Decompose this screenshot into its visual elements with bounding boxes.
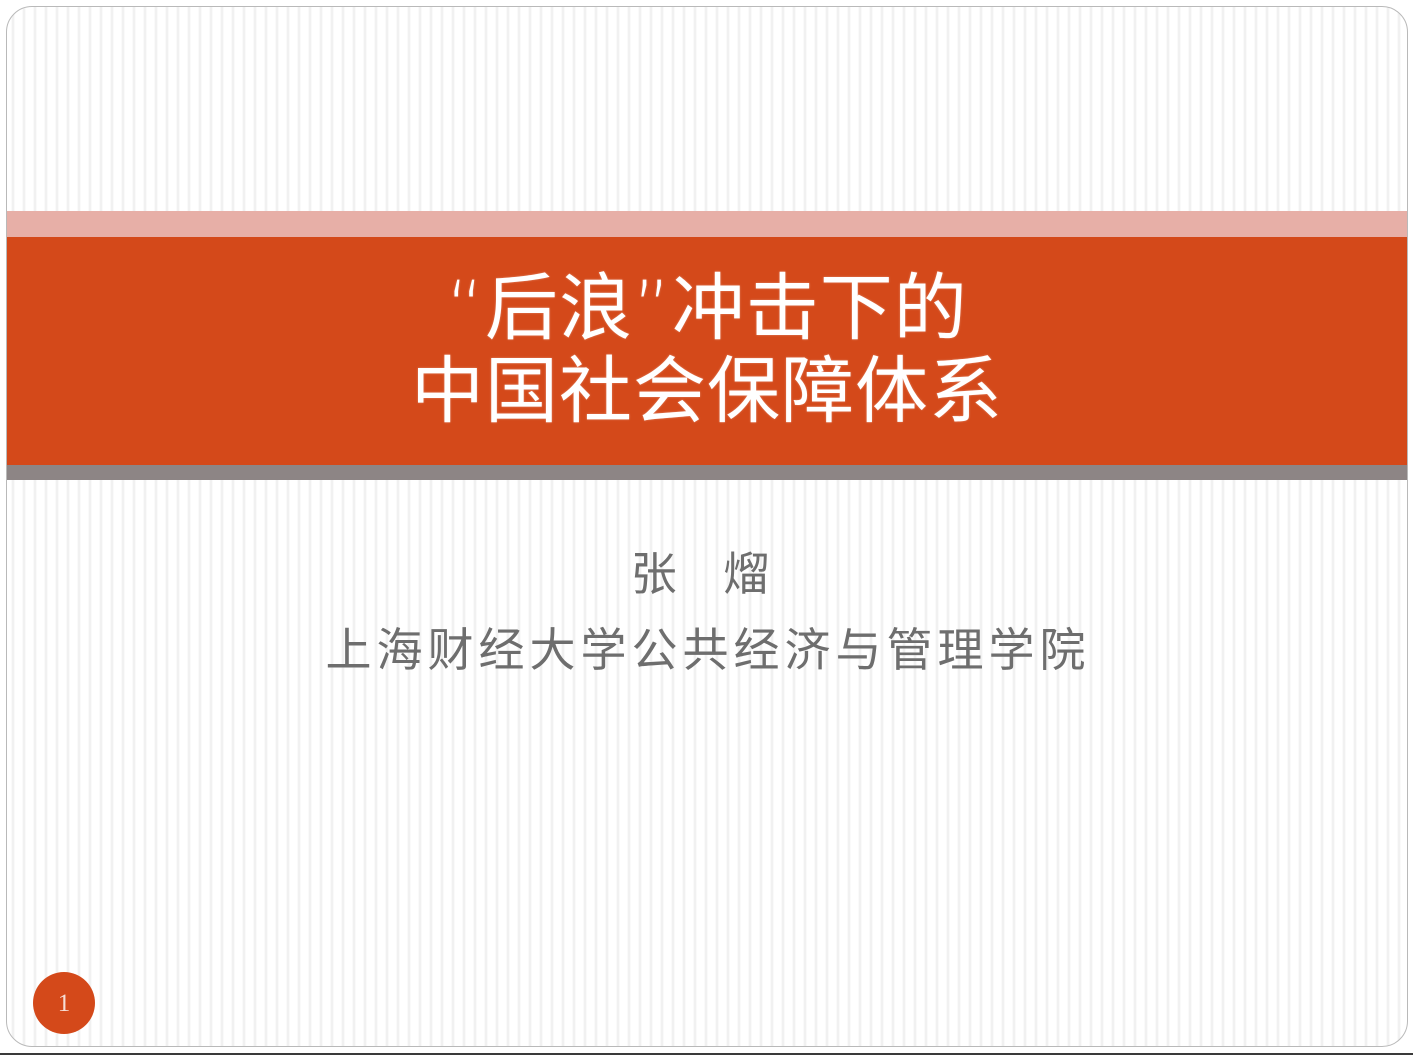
banner-accent-bar-pink bbox=[7, 211, 1407, 237]
subtitle-block: 张 熘 上海财经大学公共经济与管理学院 bbox=[7, 541, 1408, 685]
slide-number-badge: 1 bbox=[33, 972, 95, 1034]
banner-accent-bar-gray bbox=[7, 465, 1407, 480]
banner-title-bar: “后浪”冲击下的 中国社会保障体系 bbox=[7, 237, 1407, 465]
presenter-name: 张 熘 bbox=[7, 541, 1408, 608]
title-banner: “后浪”冲击下的 中国社会保障体系 bbox=[7, 211, 1407, 480]
slide-number-label: 1 bbox=[58, 991, 71, 1016]
slide-title-line-1: “后浪”冲击下的 bbox=[446, 270, 968, 349]
slide-canvas: “后浪”冲击下的 中国社会保障体系 张 熘 上海财经大学公共经济与管理学院 1 bbox=[6, 6, 1408, 1047]
page-bottom-rule bbox=[0, 1053, 1413, 1055]
presenter-affiliation: 上海财经大学公共经济与管理学院 bbox=[7, 616, 1408, 685]
slide-title-line-2: 中国社会保障体系 bbox=[411, 353, 1003, 432]
